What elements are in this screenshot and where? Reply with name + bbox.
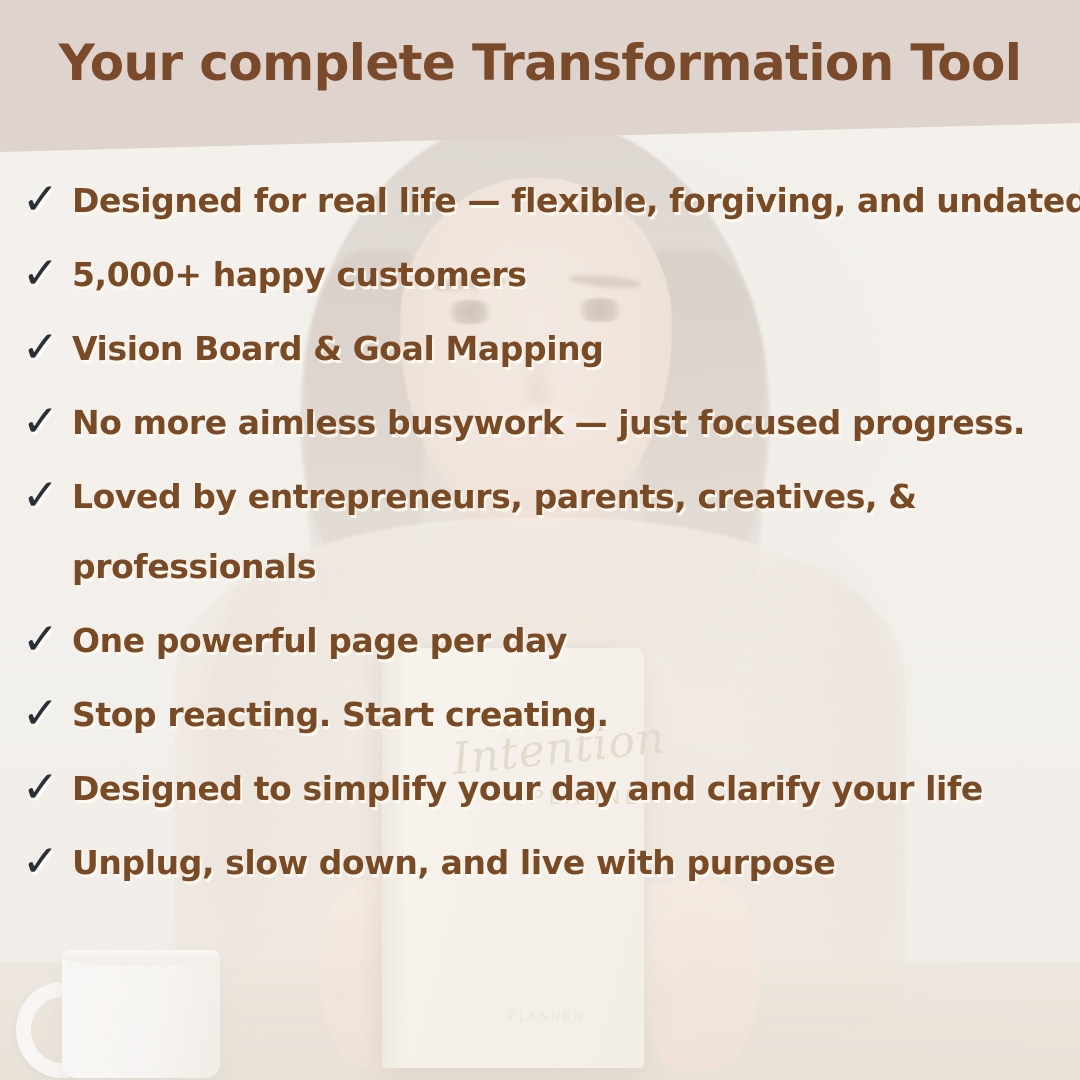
list-item-continuation: ✓ professionals — [0, 542, 1080, 594]
list-item: ✓ Loved by entrepreneurs, parents, creat… — [0, 472, 1080, 524]
planner-footer-text: PLANNER — [508, 1010, 586, 1024]
check-icon: ✓ — [22, 838, 68, 886]
mug-rim — [62, 950, 220, 966]
check-icon: ✓ — [22, 250, 68, 298]
list-item: ✓ No more aimless busywork — just focuse… — [0, 398, 1080, 450]
list-item-label: professionals — [72, 542, 316, 592]
check-icon: ✓ — [22, 690, 68, 738]
check-icon: ✓ — [22, 764, 68, 812]
list-item-label: Vision Board & Goal Mapping — [72, 324, 603, 374]
check-icon: ✓ — [22, 616, 68, 664]
list-item-label: Loved by entrepreneurs, parents, creativ… — [72, 472, 917, 522]
list-item: ✓ Designed to simplify your day and clar… — [0, 764, 1080, 816]
list-item: ✓ Designed for real life — flexible, for… — [0, 176, 1080, 228]
list-item-label: Unplug, slow down, and live with purpose — [72, 838, 835, 888]
list-item: ✓ 5,000+ happy customers — [0, 250, 1080, 302]
list-item: ✓ Stop reacting. Start creating. — [0, 690, 1080, 742]
benefits-checklist: ✓ Designed for real life — flexible, for… — [0, 176, 1080, 912]
infographic-canvas: Intention PLANNER PLANNER Your complete … — [0, 0, 1080, 1080]
list-item-label: One powerful page per day — [72, 616, 567, 666]
page-title: Your complete Transformation Tool — [0, 34, 1080, 92]
list-item-label: Designed for real life — flexible, forgi… — [72, 176, 1080, 226]
list-item: ✓ Unplug, slow down, and live with purpo… — [0, 838, 1080, 890]
check-icon: ✓ — [22, 398, 68, 446]
check-icon: ✓ — [22, 472, 68, 520]
list-item-label: No more aimless busywork — just focused … — [72, 398, 1025, 448]
check-icon: ✓ — [22, 324, 68, 372]
list-item: ✓ One powerful page per day — [0, 616, 1080, 668]
coffee-mug — [62, 950, 220, 1078]
list-item-label: 5,000+ happy customers — [72, 250, 527, 300]
list-item-label: Stop reacting. Start creating. — [72, 690, 609, 740]
list-item-label: Designed to simplify your day and clarif… — [72, 764, 983, 814]
list-item: ✓ Vision Board & Goal Mapping — [0, 324, 1080, 376]
check-icon: ✓ — [22, 176, 68, 224]
